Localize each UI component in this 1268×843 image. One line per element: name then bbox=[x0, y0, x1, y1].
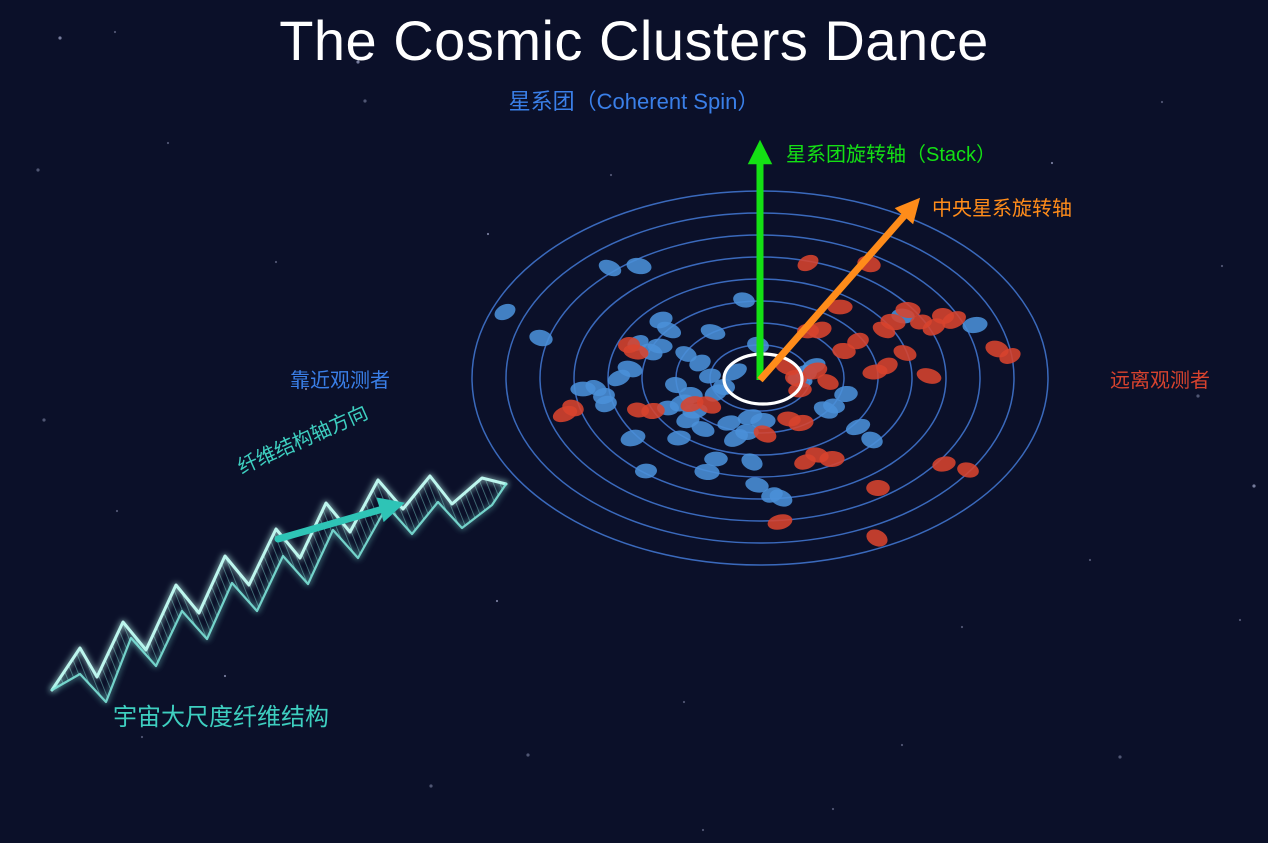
star bbox=[832, 808, 834, 810]
star bbox=[702, 829, 704, 831]
star bbox=[36, 168, 39, 171]
star bbox=[526, 753, 529, 756]
label-stack-axis: 星系团旋转轴（Stack） bbox=[786, 138, 996, 167]
galaxy-dot bbox=[766, 512, 794, 532]
galaxy-dot bbox=[915, 366, 943, 387]
star bbox=[224, 675, 226, 677]
star bbox=[487, 233, 489, 235]
galaxy-dot bbox=[596, 257, 624, 280]
star bbox=[1196, 394, 1199, 397]
star bbox=[961, 626, 963, 628]
star bbox=[141, 736, 143, 738]
galaxy-dot bbox=[866, 480, 890, 496]
label-central-galaxy-axis: 中央星系旋转轴 bbox=[932, 192, 1072, 221]
star bbox=[429, 784, 432, 787]
star bbox=[167, 142, 169, 144]
galaxy-dot bbox=[732, 290, 757, 309]
star bbox=[610, 174, 612, 176]
galaxy-dot bbox=[625, 256, 653, 276]
star bbox=[1239, 619, 1241, 621]
star bbox=[1089, 559, 1091, 561]
filament-outline-bottom bbox=[52, 484, 506, 702]
star bbox=[116, 510, 118, 512]
galaxy-dot bbox=[699, 322, 727, 343]
galaxy-dot bbox=[635, 463, 658, 479]
star bbox=[42, 418, 45, 421]
star bbox=[901, 744, 903, 746]
cosmic-filament-structure bbox=[52, 476, 506, 702]
galaxy-dot bbox=[667, 430, 692, 447]
galaxy-dot bbox=[931, 454, 957, 473]
star bbox=[1252, 484, 1255, 487]
star bbox=[1221, 265, 1223, 267]
page-subtitle: 星系团（Coherent Spin） bbox=[0, 84, 1268, 116]
galaxy-dot bbox=[795, 252, 821, 275]
label-approaching-observer: 靠近观测者 bbox=[290, 364, 390, 393]
star bbox=[1051, 162, 1053, 164]
star bbox=[683, 701, 685, 703]
galaxy-dot bbox=[528, 328, 554, 349]
star bbox=[496, 600, 498, 602]
galaxy-dot bbox=[619, 427, 647, 449]
label-receding-observer: 远离观测者 bbox=[1110, 364, 1210, 393]
star bbox=[1118, 755, 1121, 758]
cosmic-clusters-diagram: The Cosmic Clusters Dance 星系团（Coherent S… bbox=[0, 0, 1268, 843]
label-filament-structure: 宇宙大尺度纤维结构 bbox=[113, 697, 329, 732]
page-title: The Cosmic Clusters Dance bbox=[0, 8, 1268, 73]
star bbox=[275, 261, 277, 263]
